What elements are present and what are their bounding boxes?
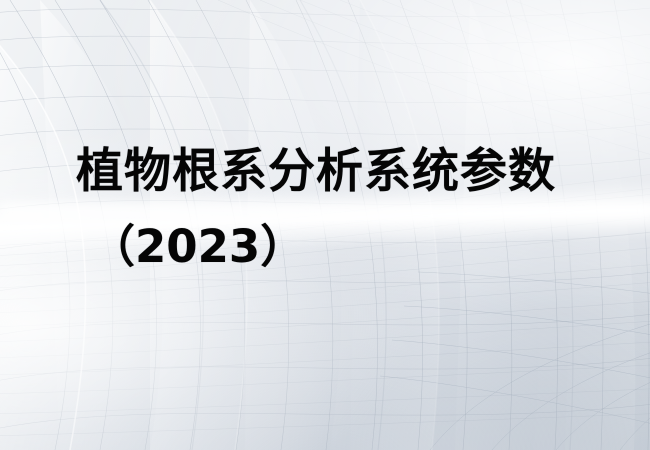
title-block: 植物根系分析系统参数 （2023） (0, 0, 650, 450)
page-title-year: （2023） (90, 218, 305, 276)
page-title: 植物根系分析系统参数 (76, 143, 556, 201)
title-slide: 植物根系分析系统参数 （2023） (0, 0, 650, 450)
